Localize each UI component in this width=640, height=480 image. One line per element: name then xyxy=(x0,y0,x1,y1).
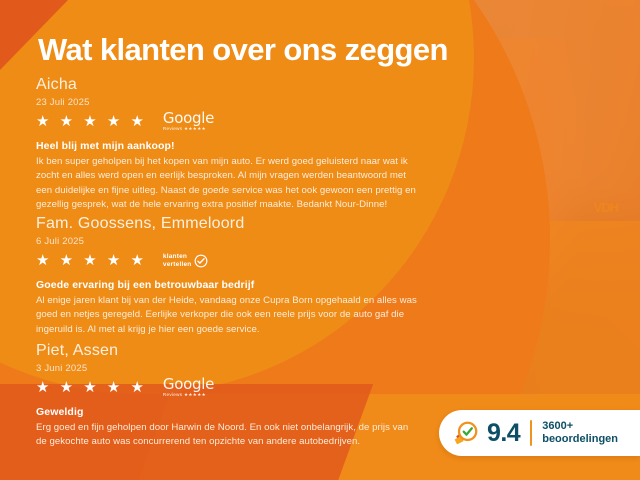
review-body: Erg goed en fijn geholpen door Harwin de… xyxy=(36,421,418,450)
reviewer-name: Fam. Goossens, Emmeloord xyxy=(36,215,418,233)
review-date: 6 Juli 2025 xyxy=(36,236,418,247)
score-value: 9.4 xyxy=(487,421,520,446)
review-body: Ik ben super geholpen bij het kopen van … xyxy=(36,155,418,213)
google-reviews-logo: Google Reviews ★★★★★ xyxy=(163,111,214,132)
reviewer-name: Piet, Assen xyxy=(36,342,418,360)
brand-logo: VDH xyxy=(594,200,618,215)
review-date: 3 Juni 2025 xyxy=(36,363,418,374)
google-reviews-logo: Google Reviews ★★★★★ xyxy=(163,377,214,398)
review-heading: Goede ervaring bij een betrouwbaar bedri… xyxy=(36,279,418,291)
reviewer-name: Aicha xyxy=(36,76,418,94)
star-rating-icon: ★ ★ ★ ★ ★ xyxy=(36,380,147,395)
score-meta: 3600+ beoordelingen xyxy=(542,420,618,446)
google-wordmark: Google xyxy=(163,111,214,126)
review-card: Aicha 23 Juli 2025 ★ ★ ★ ★ ★ Google Revi… xyxy=(36,76,418,213)
klantenvertellen-line2: vertellen xyxy=(163,261,192,268)
google-wordmark: Google xyxy=(163,377,214,392)
score-divider xyxy=(530,420,532,446)
review-count: 3600+ xyxy=(542,420,618,433)
rating-row: ★ ★ ★ ★ ★ klanten vertellen xyxy=(36,251,418,271)
review-date: 23 Juli 2025 xyxy=(36,97,418,108)
review-body: Al enige jaren klant bij van der Heide, … xyxy=(36,294,418,338)
star-rating-icon: ★ ★ ★ ★ ★ xyxy=(36,114,147,129)
review-heading: Heel blij met mijn aankoop! xyxy=(36,140,418,152)
google-reviews-sub: Reviews ★★★★★ xyxy=(163,127,214,132)
klantenvertellen-line1: klanten xyxy=(163,253,192,260)
score-badge[interactable]: 9.4 3600+ beoordelingen xyxy=(439,410,640,456)
verified-check-icon xyxy=(453,420,479,446)
review-card: Piet, Assen 3 Juni 2025 ★ ★ ★ ★ ★ Google… xyxy=(36,342,418,450)
review-count-label: beoordelingen xyxy=(542,433,618,446)
page-title: Wat klanten over ons zeggen xyxy=(38,32,448,68)
google-reviews-sub: Reviews ★★★★★ xyxy=(163,393,214,398)
klantenvertellen-logo: klanten vertellen xyxy=(163,253,209,268)
review-banner: VDH Wat klanten over ons zeggen Aicha 23… xyxy=(0,0,640,480)
klantenvertellen-wordmark: klanten vertellen xyxy=(163,253,192,268)
rating-row: ★ ★ ★ ★ ★ Google Reviews ★★★★★ xyxy=(36,378,418,398)
star-rating-icon: ★ ★ ★ ★ ★ xyxy=(36,253,147,268)
klantenvertellen-check-icon xyxy=(194,254,208,268)
review-heading: Geweldig xyxy=(36,406,418,418)
review-card: Fam. Goossens, Emmeloord 6 Juli 2025 ★ ★… xyxy=(36,215,418,337)
rating-row: ★ ★ ★ ★ ★ Google Reviews ★★★★★ xyxy=(36,112,418,132)
